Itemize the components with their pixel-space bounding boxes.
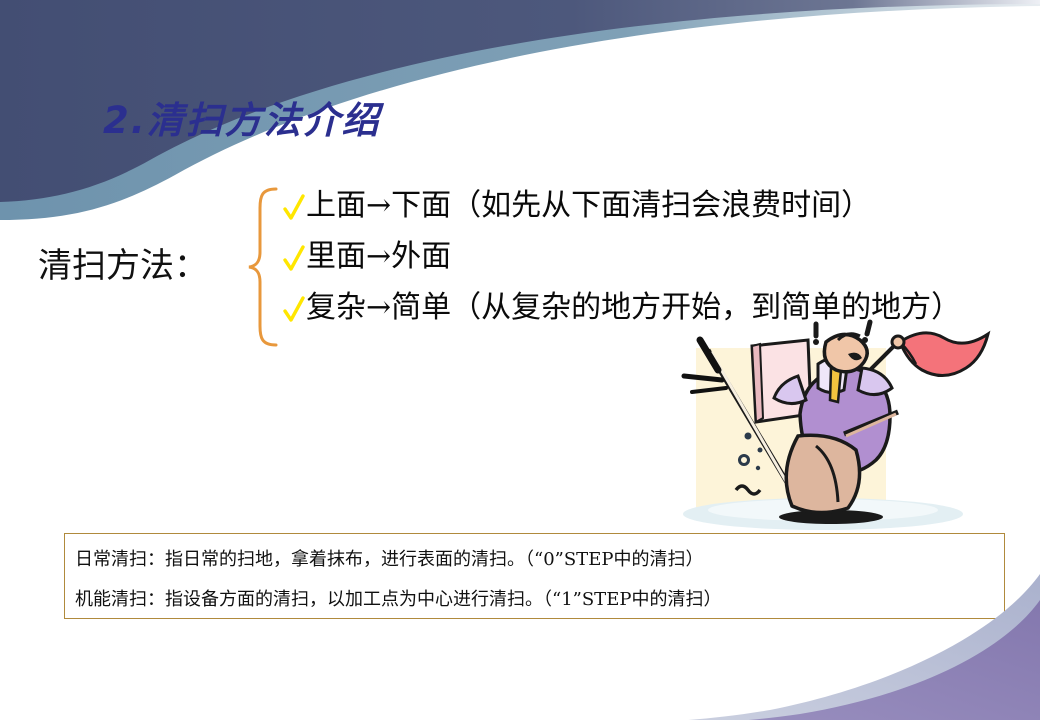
bullet-text: 上面→下面（如先从下面清扫会浪费时间）	[306, 188, 871, 224]
curly-brace-icon	[246, 186, 280, 348]
slide-canvas: 2.清扫方法介绍 清扫方法： 上面→下面（如先从下面清扫会浪费时间） 里面→外面…	[0, 0, 1040, 720]
list-item: 里面→外面	[283, 239, 1023, 290]
slide-title: 2.清扫方法介绍	[103, 90, 381, 144]
cartoon-person-with-flag-and-broom-illustration	[648, 318, 998, 538]
bullet-text: 里面→外面	[306, 239, 451, 275]
check-mark-icon	[283, 296, 305, 326]
list-item: 上面→下面（如先从下面清扫会浪费时间）	[283, 188, 1023, 239]
check-mark-icon	[283, 194, 305, 224]
note-line-daily-cleaning: 日常清扫：指日常的扫地，拿着抹布，进行表面的清扫。（“0”STEP中的清扫）	[75, 545, 703, 571]
check-mark-icon	[283, 245, 305, 275]
left-label: 清扫方法：	[38, 238, 208, 287]
note-line-functional-cleaning: 机能清扫：指设备方面的清扫，以加工点为中心进行清扫。（“1”STEP中的清扫）	[75, 585, 721, 611]
note-box: 日常清扫：指日常的扫地，拿着抹布，进行表面的清扫。（“0”STEP中的清扫） 机…	[64, 533, 1005, 619]
